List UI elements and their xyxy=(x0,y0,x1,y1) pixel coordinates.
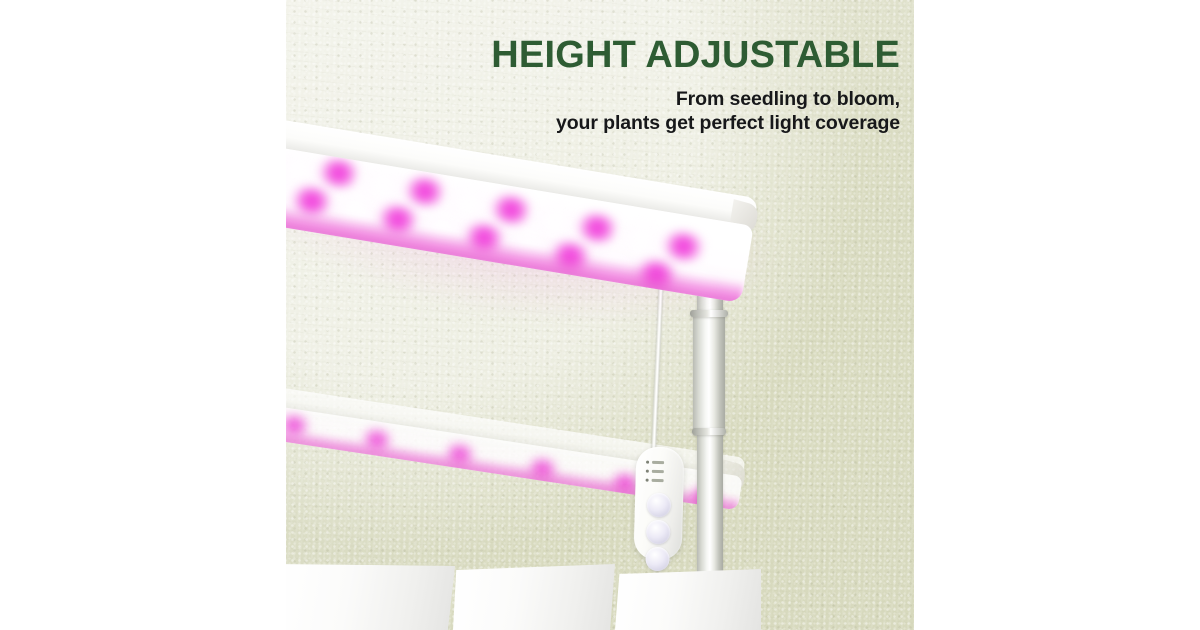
plant-pot-right xyxy=(615,564,761,630)
headline-block: HEIGHT ADJUSTABLE From seedling to bloom… xyxy=(430,36,900,136)
letterbox-right xyxy=(914,0,1200,630)
subtitle-line-2: your plants get perfect light coverage xyxy=(430,111,900,136)
indicator-bar xyxy=(652,470,664,473)
subtitle: From seedling to bloom, your plants get … xyxy=(430,87,900,137)
inline-controller[interactable] xyxy=(634,446,685,560)
pole-segment-middle xyxy=(693,312,725,436)
indicator-dot xyxy=(646,461,649,464)
plant-pot-center xyxy=(453,564,615,630)
indicator-bar xyxy=(652,461,664,464)
indicator-dot xyxy=(646,470,649,473)
indicator-row-1 xyxy=(646,461,664,464)
subtitle-line-1: From seedling to bloom, xyxy=(430,87,900,112)
pole-segment-lower xyxy=(697,430,723,590)
page-title: HEIGHT ADJUSTABLE xyxy=(430,36,900,76)
indicator-dot xyxy=(646,479,649,482)
plant-pot-left xyxy=(285,564,455,630)
marketing-image-canvas: 18 – 31 cm HEIGHT ADJUSTABLE From seedli… xyxy=(0,0,1200,630)
controller-button-timer[interactable] xyxy=(646,520,671,545)
indicator-row-2 xyxy=(646,470,664,473)
controller-button-power[interactable] xyxy=(647,493,672,518)
indicator-bar xyxy=(652,479,664,482)
pole-collar-lower xyxy=(692,428,726,435)
led-grow-light-panel-raised xyxy=(285,119,758,317)
controller-button-mode[interactable] xyxy=(645,547,670,572)
letterbox-left xyxy=(0,0,286,630)
indicator-row-3 xyxy=(646,479,664,482)
